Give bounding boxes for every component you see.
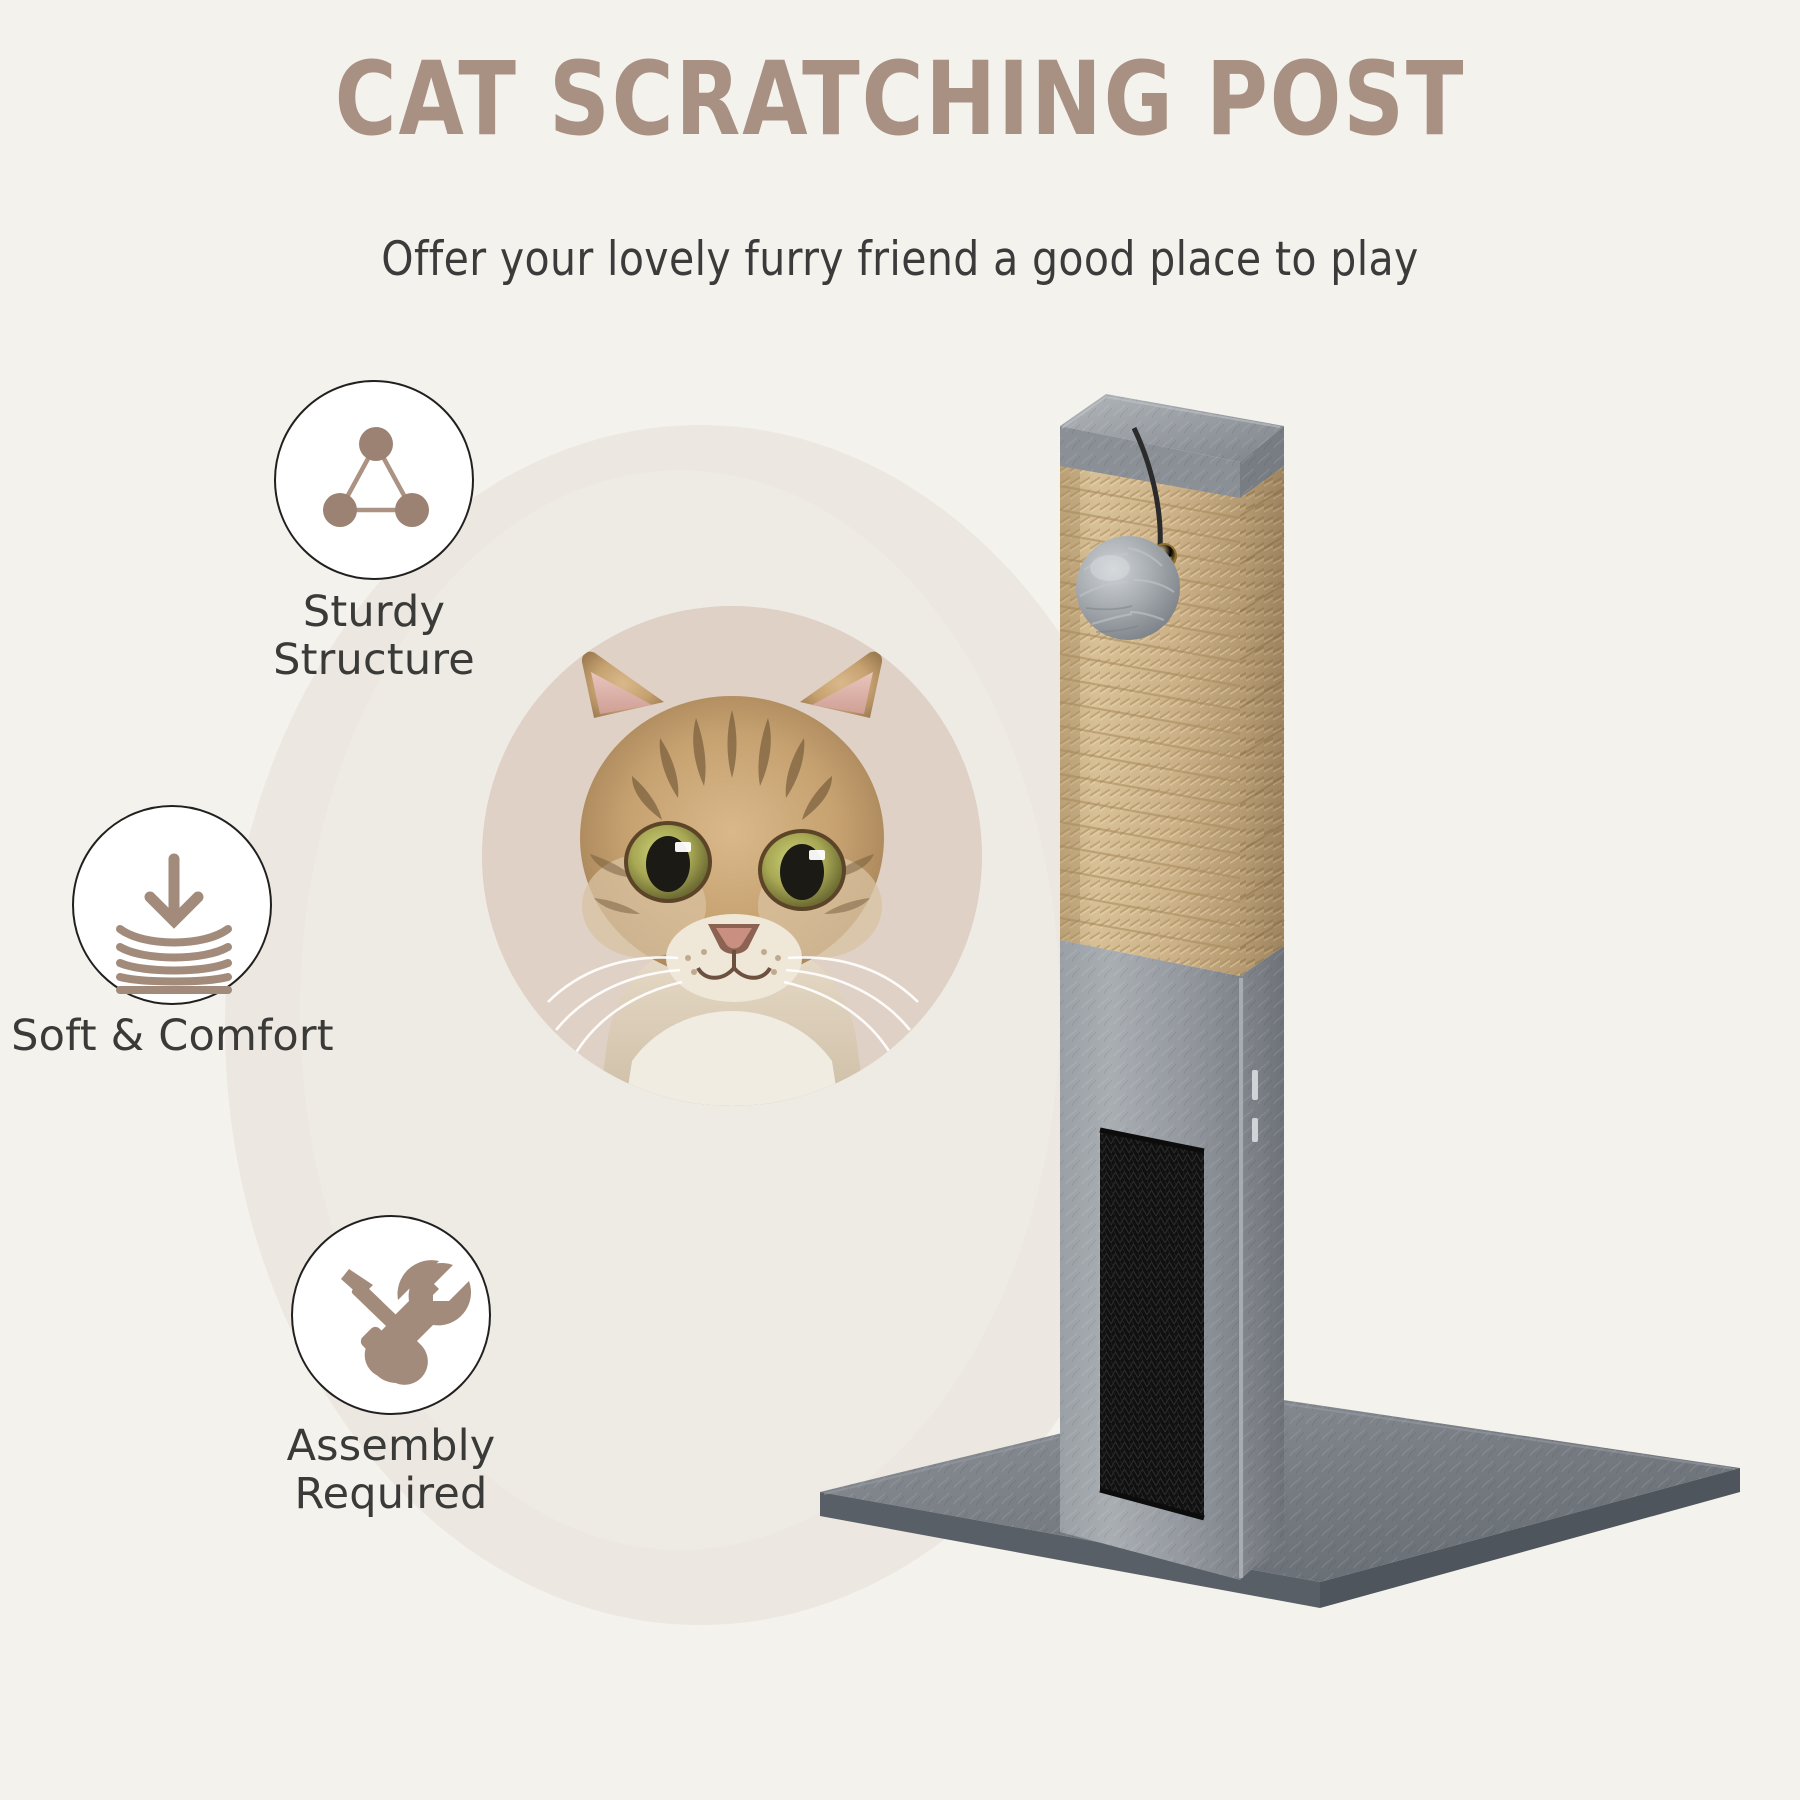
- feature-label: Assembly Required: [231, 1422, 551, 1518]
- triangle-nodes-icon: [276, 382, 476, 582]
- feature-label: Sturdy Structure: [214, 588, 534, 684]
- feature-label: Soft & Comfort: [0, 1012, 345, 1060]
- feature-icon-badge: [291, 1215, 491, 1415]
- page-title: CAT SCRATCHING POST: [72, 46, 1728, 153]
- page-subtitle: Offer your lovely furry friend a good pl…: [27, 232, 1773, 287]
- cushion-pressure-icon: [74, 807, 274, 1007]
- infographic-canvas: CAT SCRATCHING POST Offer your lovely fu…: [0, 0, 1800, 1800]
- feature-icon-badge: [72, 805, 272, 1005]
- feature-icon-badge: [274, 380, 474, 580]
- cat-scratching-post-photo: [760, 370, 1800, 1610]
- sisal-rope-column: [1060, 462, 1284, 976]
- tools-icon: [293, 1217, 493, 1417]
- scratching-post-illustration: [760, 370, 1800, 1610]
- black-bristle-grooming-pad: [1100, 1130, 1204, 1518]
